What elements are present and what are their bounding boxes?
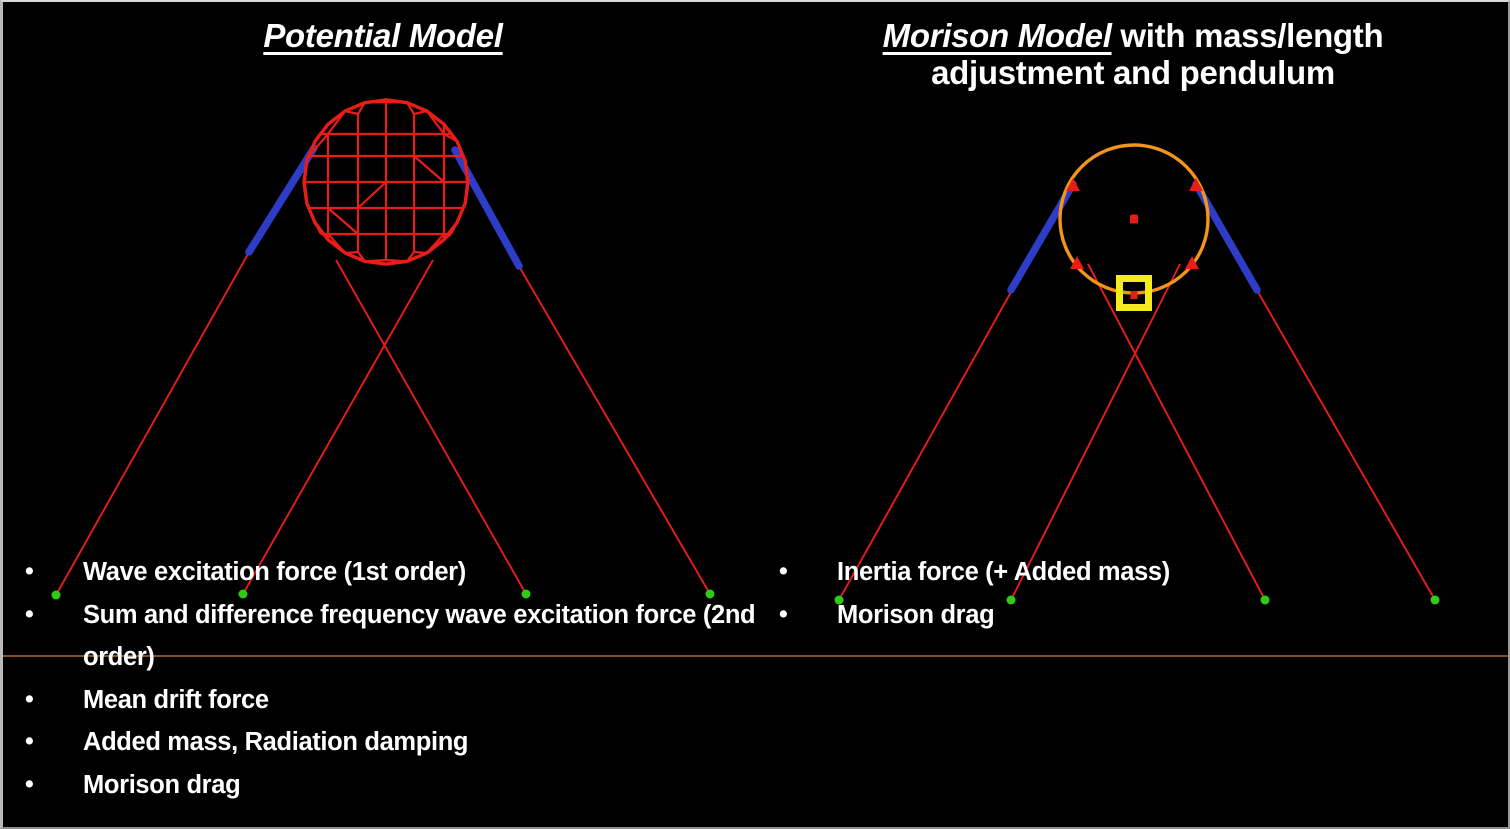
anchor-point (52, 591, 61, 600)
slide-canvas: Potential Model Morison Model with mass/… (0, 0, 1510, 829)
bullet-list-left: • Wave excitation force (1st order) • Su… (21, 551, 761, 806)
bullet-marker: • (21, 679, 83, 721)
bullet-marker: • (775, 551, 837, 593)
bullet-marker: • (21, 721, 83, 763)
anchor-point (1261, 596, 1270, 605)
anchor-point (835, 596, 844, 605)
list-item: • Inertia force (+ Added mass) (775, 551, 1475, 594)
list-item: • Sum and difference frequency wave exci… (21, 594, 761, 679)
list-item-label: Morison drag (83, 764, 761, 807)
list-item-label: Added mass, Radiation damping (83, 721, 761, 764)
title-left-emphasis: Potential Model (263, 17, 502, 54)
page-title-right: Morison Model with mass/length adjustmen… (803, 18, 1463, 92)
anchor-point (1431, 596, 1440, 605)
anchor-point (522, 590, 531, 599)
list-item-label: Morison drag (837, 594, 1475, 637)
left-mooring-lines (56, 254, 710, 595)
bullet-marker: • (21, 764, 83, 806)
list-item: • Mean drift force (21, 679, 761, 722)
list-item: • Wave excitation force (1st order) (21, 551, 761, 594)
list-item-label: Sum and difference frequency wave excita… (83, 594, 761, 679)
right-body-center-node (1130, 215, 1138, 224)
page-title-left: Potential Model (123, 18, 643, 55)
right-mooring-lines (839, 264, 1435, 600)
bullet-list-right: • Inertia force (+ Added mass) • Morison… (775, 551, 1475, 636)
anchor-point (239, 590, 248, 599)
bullet-marker: • (21, 551, 83, 593)
list-item: • Morison drag (21, 764, 761, 807)
pendulum-inner-node (1131, 291, 1138, 299)
title-right-emphasis: Morison Model (883, 17, 1112, 54)
bullet-marker: • (775, 594, 837, 636)
list-item-label: Mean drift force (83, 679, 761, 722)
anchor-point (706, 590, 715, 599)
list-item: • Morison drag (775, 594, 1475, 637)
list-item-label: Wave excitation force (1st order) (83, 551, 761, 594)
bullet-marker: • (21, 594, 83, 636)
list-item: • Added mass, Radiation damping (21, 721, 761, 764)
anchor-point (1007, 596, 1016, 605)
right-body-node-markers (1066, 178, 1203, 269)
left-body-mesh-disc (304, 100, 468, 264)
list-item-label: Inertia force (+ Added mass) (837, 551, 1475, 594)
